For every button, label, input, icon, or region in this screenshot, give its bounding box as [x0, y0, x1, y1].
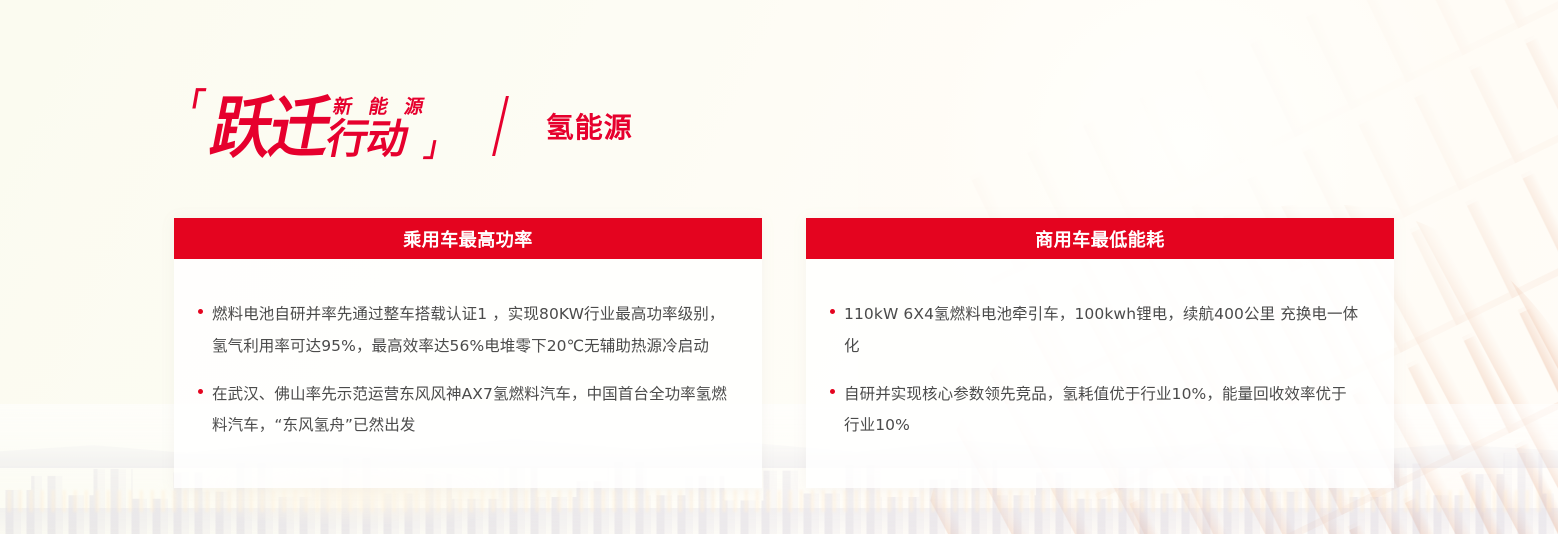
card-header: 商用车最低能耗 — [806, 218, 1394, 259]
logo-close-bracket: 「 — [421, 126, 457, 166]
logo-mark: 「 跃迁 新 能 源 行动 「 — [174, 90, 453, 162]
city-lights — [0, 490, 1558, 512]
card-body: 110kW 6X4氢燃料电池牵引车，100kwh锂电，续航400公里 充换电一体… — [806, 259, 1394, 488]
logo-sub-group: 新 能 源 行动 — [323, 98, 430, 160]
list-item: 自研并实现核心参数领先竞品，氢耗值优于行业10%，能量回收效率优于行业10% — [824, 379, 1360, 443]
logo-divider — [492, 96, 508, 156]
card-body: 燃料电池自研并率先通过整车搭载认证1 ，实现80KW行业最高功率级别，氢气利用率… — [174, 259, 762, 488]
bullet-text: 110kW 6X4氢燃料电池牵引车，100kwh锂电，续航400公里 充换电一体… — [844, 299, 1360, 363]
list-item: 110kW 6X4氢燃料电池牵引车，100kwh锂电，续航400公里 充换电一体… — [824, 299, 1360, 363]
card-passenger-vehicle: 乘用车最高功率 燃料电池自研并率先通过整车搭载认证1 ，实现80KW行业最高功率… — [174, 218, 762, 488]
logo-main-text: 跃迁 — [206, 95, 335, 162]
bullet-list: 110kW 6X4氢燃料电池牵引车，100kwh锂电，续航400公里 充换电一体… — [824, 299, 1360, 442]
list-item: 在武汉、佛山率先示范运营东风风神AX7氢燃料汽车，中国首台全功率氢燃料汽车，“东… — [192, 379, 728, 443]
card-header: 乘用车最高功率 — [174, 218, 762, 259]
logo-sub-bottom-text: 行动 — [323, 119, 426, 160]
logo-open-bracket: 「 — [171, 90, 206, 120]
card-title: 商用车最低能耗 — [1035, 226, 1165, 252]
logo-tagline: 氢能源 — [546, 106, 633, 146]
page-root: 「 跃迁 新 能 源 行动 「 氢能源 乘用车最高功率 燃料电池自研并率先通过整… — [0, 0, 1558, 534]
river — [0, 508, 1558, 534]
bullet-text: 在武汉、佛山率先示范运营东风风神AX7氢燃料汽车，中国首台全功率氢燃料汽车，“东… — [212, 379, 728, 443]
card-commercial-vehicle: 商用车最低能耗 110kW 6X4氢燃料电池牵引车，100kwh锂电，续航400… — [806, 218, 1394, 488]
bullet-dot-icon — [198, 309, 203, 314]
bullet-dot-icon — [198, 389, 203, 394]
card-title: 乘用车最高功率 — [403, 226, 533, 252]
bullet-text: 自研并实现核心参数领先竞品，氢耗值优于行业10%，能量回收效率优于行业10% — [844, 379, 1360, 443]
bullet-dot-icon — [830, 389, 835, 394]
bullet-dot-icon — [830, 309, 835, 314]
bullet-list: 燃料电池自研并率先通过整车搭载认证1 ，实现80KW行业最高功率级别，氢气利用率… — [192, 299, 728, 442]
brand-logo-lockup: 「 跃迁 新 能 源 行动 「 氢能源 — [174, 80, 633, 172]
card-container: 乘用车最高功率 燃料电池自研并率先通过整车搭载认证1 ，实现80KW行业最高功率… — [174, 218, 1394, 488]
bullet-text: 燃料电池自研并率先通过整车搭载认证1 ，实现80KW行业最高功率级别，氢气利用率… — [212, 299, 728, 363]
list-item: 燃料电池自研并率先通过整车搭载认证1 ，实现80KW行业最高功率级别，氢气利用率… — [192, 299, 728, 363]
